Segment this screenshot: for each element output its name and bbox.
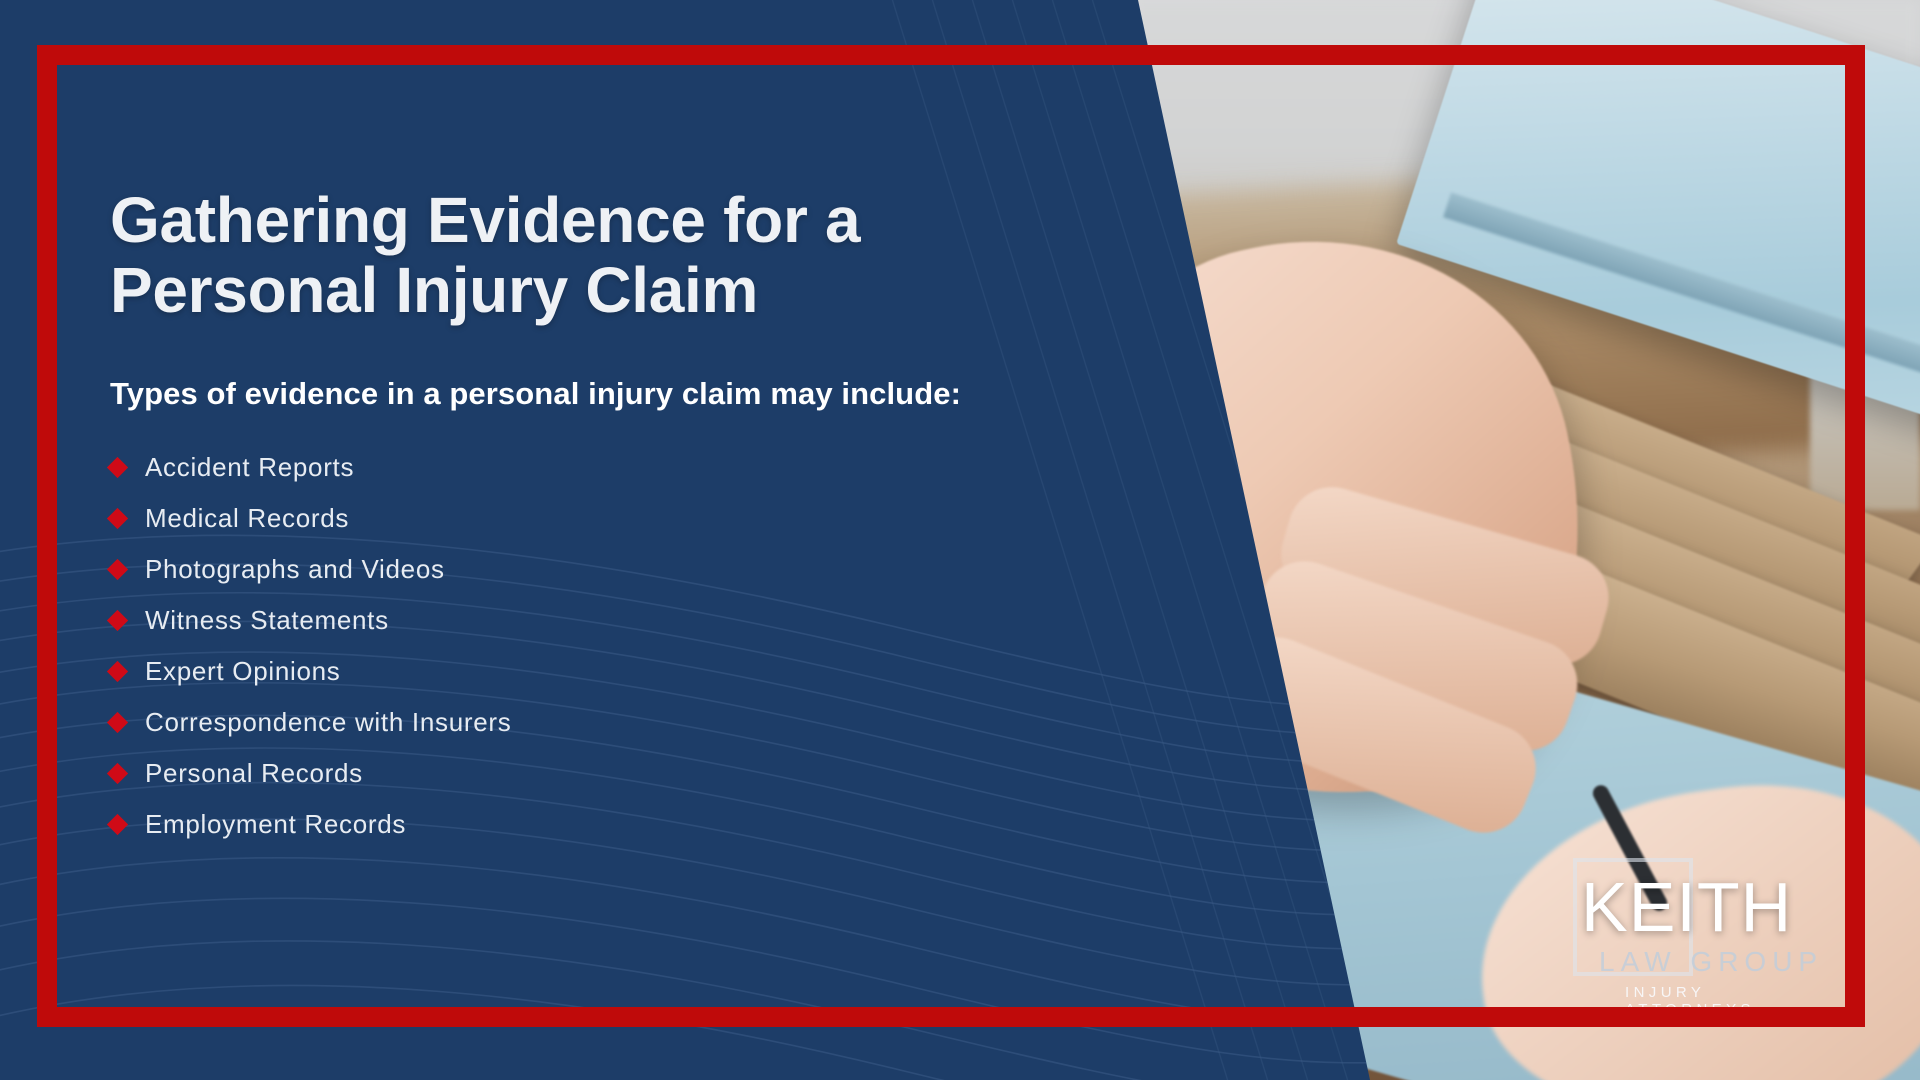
- diamond-bullet-icon: [107, 661, 128, 682]
- diamond-bullet-icon: [107, 559, 128, 580]
- list-item-label: Witness Statements: [145, 605, 389, 636]
- keith-law-group-logo: KEITH LAW GROUP INJURY ATTORNEYS: [1573, 858, 1841, 1008]
- list-item-label: Medical Records: [145, 503, 349, 534]
- headline-line-1: Gathering Evidence for a: [110, 185, 1090, 255]
- evidence-type-list: Accident Reports Medical Records Photogr…: [110, 452, 1090, 840]
- list-item: Expert Opinions: [110, 656, 1090, 687]
- marketing-banner: Gathering Evidence for a Personal Injury…: [0, 0, 1920, 1080]
- diamond-bullet-icon: [107, 610, 128, 631]
- diamond-bullet-icon: [107, 814, 128, 835]
- list-item-label: Correspondence with Insurers: [145, 707, 511, 738]
- list-item-label: Personal Records: [145, 758, 363, 789]
- list-item: Witness Statements: [110, 605, 1090, 636]
- list-item: Accident Reports: [110, 452, 1090, 483]
- list-item-label: Photographs and Videos: [145, 554, 445, 585]
- list-item-label: Accident Reports: [145, 452, 354, 483]
- headline-line-2: Personal Injury Claim: [110, 255, 1090, 325]
- logo-name: KEITH: [1581, 872, 1792, 942]
- list-item: Employment Records: [110, 809, 1090, 840]
- list-item: Medical Records: [110, 503, 1090, 534]
- logo-group-text: LAW GROUP: [1599, 946, 1823, 978]
- banner-content: Gathering Evidence for a Personal Injury…: [110, 185, 1090, 860]
- diamond-bullet-icon: [107, 712, 128, 733]
- list-item: Photographs and Videos: [110, 554, 1090, 585]
- list-item-label: Employment Records: [145, 809, 406, 840]
- subheading: Types of evidence in a personal injury c…: [110, 376, 1090, 412]
- logo-tagline: INJURY ATTORNEYS: [1625, 984, 1841, 1018]
- diamond-bullet-icon: [107, 763, 128, 784]
- list-item-label: Expert Opinions: [145, 656, 340, 687]
- page-title: Gathering Evidence for a Personal Injury…: [110, 185, 1090, 326]
- diamond-bullet-icon: [107, 457, 128, 478]
- diamond-bullet-icon: [107, 508, 128, 529]
- list-item: Correspondence with Insurers: [110, 707, 1090, 738]
- list-item: Personal Records: [110, 758, 1090, 789]
